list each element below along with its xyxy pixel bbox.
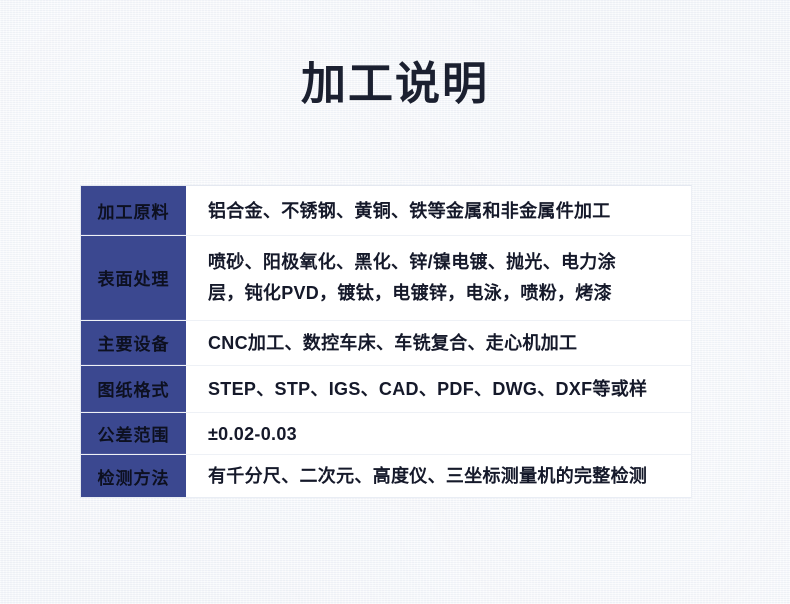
- spec-label-tolerance-range: 公差范围: [81, 413, 186, 454]
- spec-value-tolerance-range: ±0.02-0.03: [186, 413, 691, 454]
- spec-label-inspection-method: 检测方法: [81, 455, 186, 497]
- specification-table: 加工原料 铝合金、不锈钢、黄铜、铁等金属和非金属件加工 表面处理 喷砂、阳极氧化…: [80, 185, 692, 498]
- spec-label-material: 加工原料: [81, 186, 186, 235]
- table-row: 加工原料 铝合金、不锈钢、黄铜、铁等金属和非金属件加工: [81, 186, 691, 236]
- processing-specification-page: 加工说明 加工原料 铝合金、不锈钢、黄铜、铁等金属和非金属件加工 表面处理 喷砂…: [0, 0, 790, 604]
- table-row: 检测方法 有千分尺、二次元、高度仪、三坐标测量机的完整检测: [81, 455, 691, 498]
- spec-value-surface-treatment: 喷砂、阳极氧化、黑化、锌/镍电镀、抛光、电力涂 层，钝化PVD，镀钛，电镀锌，电…: [186, 236, 691, 320]
- page-title: 加工说明: [0, 55, 790, 113]
- spec-value-inspection-method: 有千分尺、二次元、高度仪、三坐标测量机的完整检测: [186, 455, 691, 497]
- table-row: 公差范围 ±0.02-0.03: [81, 413, 691, 455]
- spec-value-main-equipment: CNC加工、数控车床、车铣复合、走心机加工: [186, 321, 691, 365]
- spec-value-drawing-format: STEP、STP、IGS、CAD、PDF、DWG、DXF等或样: [186, 366, 691, 412]
- table-row: 表面处理 喷砂、阳极氧化、黑化、锌/镍电镀、抛光、电力涂 层，钝化PVD，镀钛，…: [81, 236, 691, 321]
- spec-label-drawing-format: 图纸格式: [81, 366, 186, 412]
- spec-value-material: 铝合金、不锈钢、黄铜、铁等金属和非金属件加工: [186, 186, 691, 235]
- spec-label-surface-treatment: 表面处理: [81, 236, 186, 320]
- spec-label-main-equipment: 主要设备: [81, 321, 186, 365]
- table-row: 主要设备 CNC加工、数控车床、车铣复合、走心机加工: [81, 321, 691, 366]
- table-row: 图纸格式 STEP、STP、IGS、CAD、PDF、DWG、DXF等或样: [81, 366, 691, 413]
